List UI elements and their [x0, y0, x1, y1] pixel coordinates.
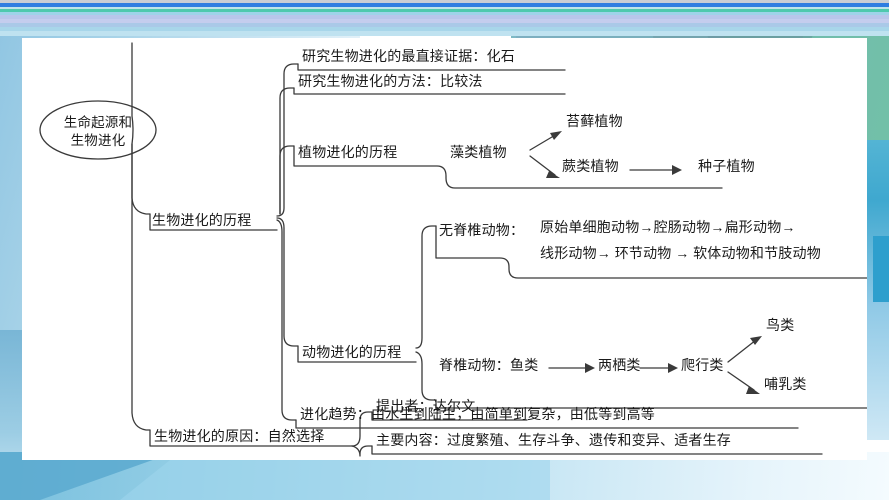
node-animal-evolution-label: 动物进化的历程	[302, 346, 401, 363]
mindmap-card: 生命起源和 生物进化 生物进化的历程 研究生物进化的最直接证据：化石 研究生物进…	[22, 38, 867, 460]
branch-label-evolution-process: 生物进化的历程	[152, 214, 251, 231]
node-vertebrate-mammal: 哺乳类	[764, 378, 807, 395]
background-right-accent	[873, 236, 889, 302]
node-vertebrate-amphibian: 两栖类	[598, 359, 641, 376]
node-seed-plant: 种子植物	[698, 160, 755, 177]
node-evidence-fossil: 研究生物进化的最直接证据：化石	[302, 50, 515, 67]
node-vertebrate-bird: 鸟类	[766, 319, 794, 336]
node-bryophyte: 苔藓植物	[566, 115, 623, 132]
node-algae: 藻类植物	[450, 146, 507, 163]
root-node-label: 生命起源和 生物进化	[54, 114, 142, 150]
branch-label-evolution-cause: 生物进化的原因：自然选择	[154, 430, 324, 447]
node-main-content: 主要内容：过度繁殖、生存斗争、遗传和变异、适者生存	[376, 434, 731, 451]
node-evolution-trend: 进化趋势：由水生到陆生，由简单到复杂，由低等到高等	[300, 408, 655, 425]
root-line-1: 生命起源和	[54, 114, 142, 132]
node-invertebrate-label: 无脊椎动物：	[439, 224, 524, 241]
slide-canvas: 生命起源和 生物进化 生物进化的历程 研究生物进化的最直接证据：化石 研究生物进…	[0, 0, 889, 500]
node-plant-evolution-label: 植物进化的历程	[298, 146, 397, 163]
node-invertebrate-sequence-line2: 线形动物→ 环节动物 → 软体动物和节肢动物	[540, 247, 821, 264]
node-vertebrate-fish: 脊椎动物：鱼类	[439, 359, 538, 376]
node-vertebrate-reptile: 爬行类	[681, 359, 724, 376]
node-proposer-darwin: 提出者：达尔文	[376, 400, 475, 417]
node-invertebrate-sequence-line1: 原始单细胞动物→腔肠动物→扁形动物→	[540, 221, 796, 238]
background-top-stripes	[0, 0, 889, 36]
node-fern: 蕨类植物	[562, 160, 619, 177]
root-line-2: 生物进化	[54, 132, 142, 150]
node-method-comparison: 研究生物进化的方法：比较法	[298, 75, 483, 92]
